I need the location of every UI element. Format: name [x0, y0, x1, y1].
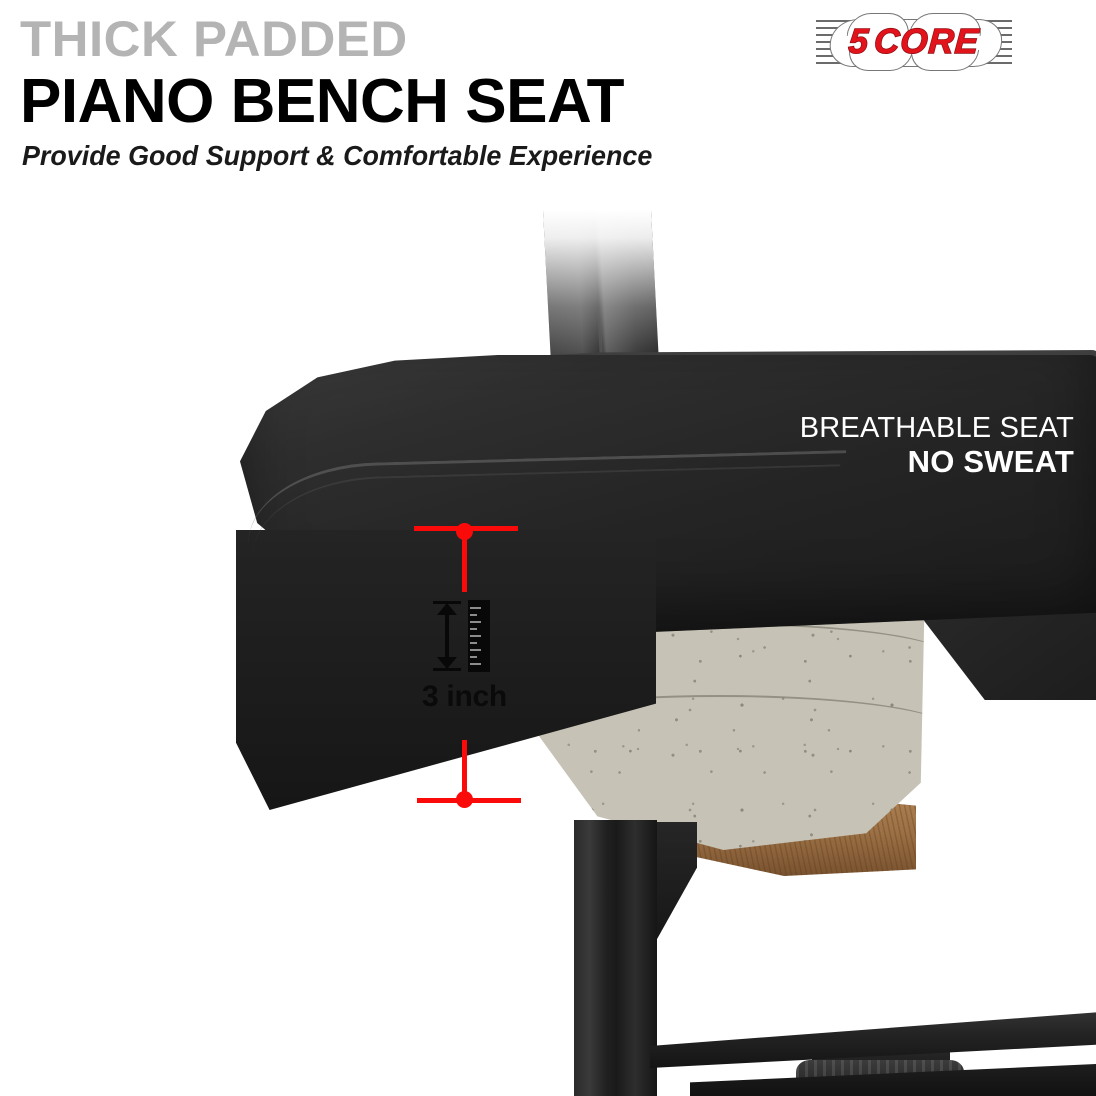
measurement-top-dot — [456, 523, 473, 540]
breathable-seat-line1: BREATHABLE SEAT — [800, 412, 1074, 444]
page-title: PIANO BENCH SEAT — [20, 70, 920, 133]
brand-logo: 5 CORE — [816, 16, 1012, 68]
product-photo — [0, 200, 1096, 1096]
logo-number: 5 — [847, 22, 870, 62]
breathable-seat-callout: BREATHABLE SEAT NO SWEAT — [800, 412, 1074, 480]
logo-wordmark: 5 CORE — [814, 16, 1014, 68]
headline-block: THICK PADDED PIANO BENCH SEAT Provide Go… — [20, 14, 920, 172]
ruler-arrow-icon — [432, 600, 490, 672]
measurement-bottom-line — [417, 798, 521, 803]
product-marketing-image: THICK PADDED PIANO BENCH SEAT Provide Go… — [0, 0, 1096, 1096]
headline-eyebrow: THICK PADDED — [20, 14, 938, 64]
logo-word: CORE — [873, 22, 981, 62]
double-arrow-icon — [432, 601, 462, 671]
ruler-bar — [468, 600, 490, 672]
breathable-seat-line2: NO SWEAT — [800, 445, 1074, 480]
measurement-label: 3 inch — [422, 680, 507, 714]
headline-subtitle: Provide Good Support & Comfortable Exper… — [22, 141, 884, 172]
